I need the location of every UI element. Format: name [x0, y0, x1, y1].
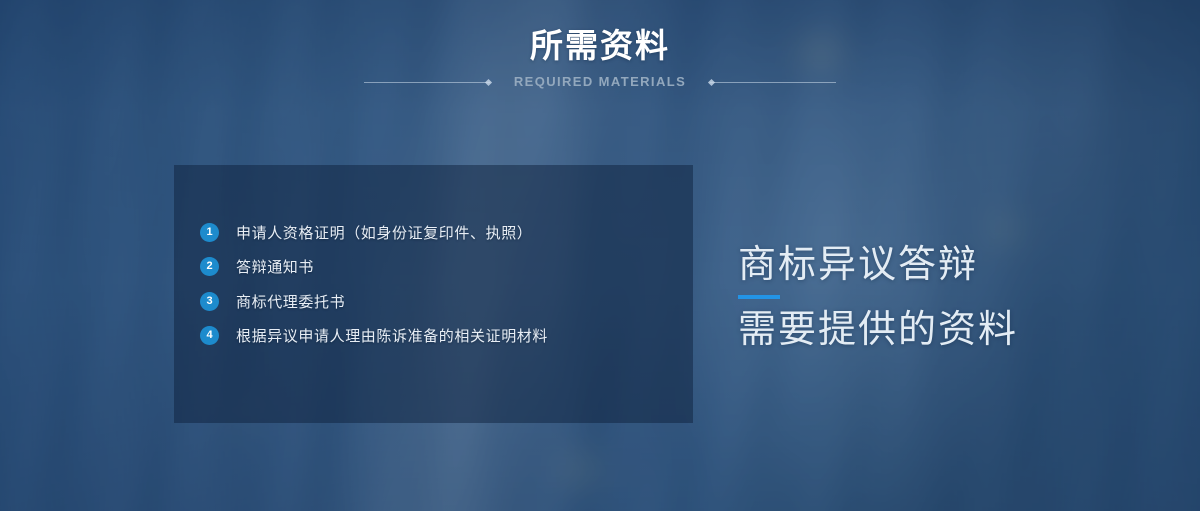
headline-accent-bar [738, 295, 780, 299]
number-badge-1: 1 [200, 223, 219, 242]
page-title: 所需资料 [0, 26, 1200, 66]
subtitle-row: REQUIRED MATERIALS [0, 73, 1200, 91]
divider-line-left [364, 82, 490, 83]
page-subtitle: REQUIRED MATERIALS [490, 73, 710, 91]
header: 所需资料 REQUIRED MATERIALS [0, 26, 1200, 91]
list-item: 2 答辩通知书 [200, 250, 683, 285]
list-item-label: 商标代理委托书 [236, 291, 345, 312]
number-badge-2: 2 [200, 257, 219, 276]
divider-line-right [710, 82, 836, 83]
required-materials-banner: 所需资料 REQUIRED MATERIALS 1 申请人资格证明（如身份证复印… [0, 0, 1200, 511]
list-item: 3 商标代理委托书 [200, 284, 683, 319]
list-item: 4 根据异议申请人理由陈诉准备的相关证明材料 [200, 319, 683, 354]
number-badge-3: 3 [200, 292, 219, 311]
materials-panel: 1 申请人资格证明（如身份证复印件、执照） 2 答辩通知书 3 商标代理委托书 … [174, 165, 693, 423]
list-item-label: 答辩通知书 [236, 256, 314, 277]
list-item-label: 根据异议申请人理由陈诉准备的相关证明材料 [236, 325, 548, 346]
headline-line-2: 需要提供的资料 [738, 306, 1168, 354]
number-badge-4: 4 [200, 326, 219, 345]
headline-line-1: 商标异议答辩 [738, 241, 1168, 289]
list-item-label: 申请人资格证明（如身份证复印件、执照） [236, 222, 532, 243]
list-item: 1 申请人资格证明（如身份证复印件、执照） [200, 215, 683, 250]
materials-list: 1 申请人资格证明（如身份证复印件、执照） 2 答辩通知书 3 商标代理委托书 … [200, 215, 683, 353]
headline-block: 商标异议答辩 需要提供的资料 [738, 241, 1168, 354]
